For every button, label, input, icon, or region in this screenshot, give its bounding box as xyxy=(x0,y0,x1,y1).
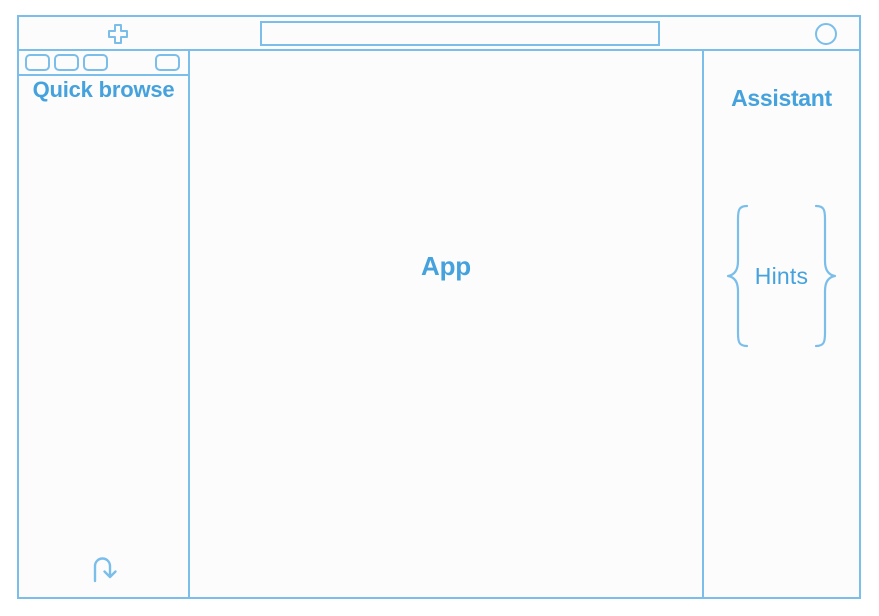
search-input[interactable] xyxy=(260,21,660,46)
sidebar-tab-4[interactable] xyxy=(155,54,180,71)
sidebar-tab-1[interactable] xyxy=(25,54,50,71)
app-panel: App xyxy=(190,51,704,597)
assistant-panel: Assistant Hints xyxy=(704,51,859,597)
assistant-heading: Assistant xyxy=(704,85,859,112)
sidebar-tab-3[interactable] xyxy=(83,54,108,71)
body-area: Quick browse App Assistant xyxy=(19,51,859,597)
quick-browse-heading: Quick browse xyxy=(19,75,188,104)
wireframe-root: Quick browse App Assistant xyxy=(0,0,879,616)
window-frame: Quick browse App Assistant xyxy=(17,15,861,599)
hints-label: Hints xyxy=(751,263,812,290)
sidebar-tab-2[interactable] xyxy=(54,54,79,71)
sidebar-tab-strip xyxy=(19,51,188,76)
sidebar-panel: Quick browse xyxy=(19,51,190,597)
hints-block: Hints xyxy=(704,201,859,351)
toolbar xyxy=(19,17,859,51)
account-circle-icon[interactable] xyxy=(815,23,837,45)
app-label: App xyxy=(421,251,471,282)
plus-icon[interactable] xyxy=(105,23,131,45)
u-turn-arrow-icon[interactable] xyxy=(87,553,121,585)
curly-brace-right-icon xyxy=(812,203,838,349)
curly-brace-left-icon xyxy=(725,203,751,349)
